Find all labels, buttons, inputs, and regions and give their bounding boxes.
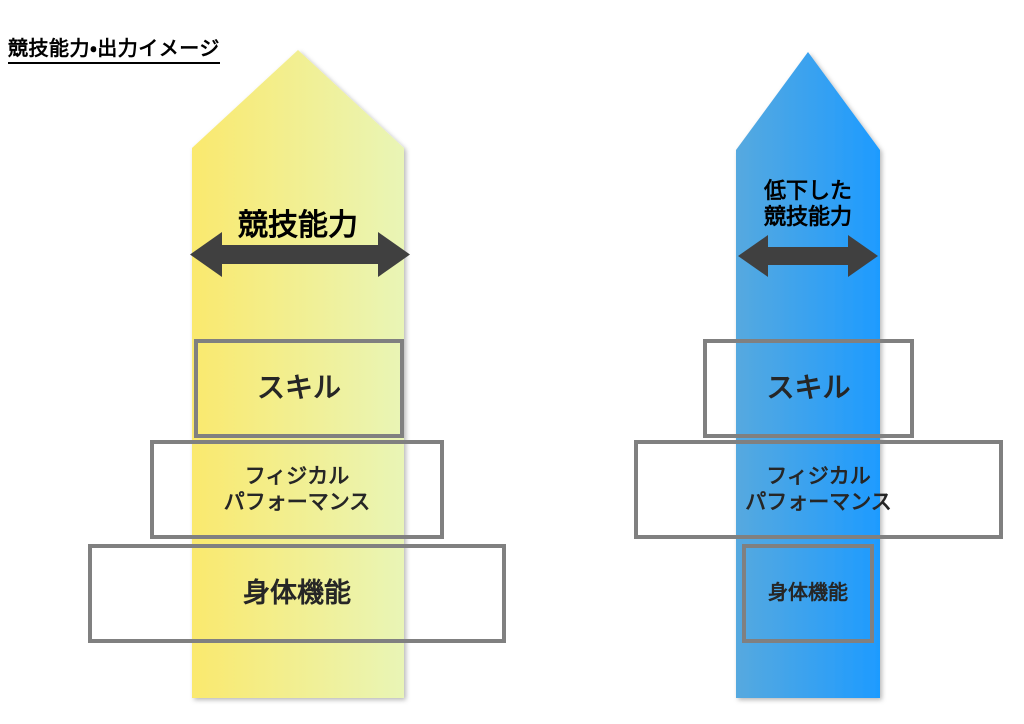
left-tier-box-skill[interactable]: スキル [194, 339, 404, 438]
left-arrow-annotation: 競技能力 [192, 208, 404, 243]
left-tier-label-skill: スキル [257, 371, 341, 405]
diagram-canvas: 競技能力・出力イメージ [0, 0, 1024, 724]
right-tier-box-body[interactable]: 身体機能 [742, 544, 874, 643]
right-tier-label-physical: フィジカル パフォーマンス [745, 464, 892, 515]
right-tier-label-body: 身体機能 [768, 581, 848, 605]
right-tier-box-skill[interactable]: スキル [703, 339, 914, 438]
left-tier-box-body[interactable]: 身体機能 [88, 544, 506, 643]
left-tier-label-physical: フィジカル パフォーマンス [224, 464, 371, 515]
right-tier-label-skill: スキル [766, 371, 850, 405]
left-tier-label-body: 身体機能 [243, 577, 351, 610]
page-title: 競技能力・出力イメージ [8, 38, 220, 64]
right-arrow-annotation: 低下した 競技能力 [730, 178, 886, 230]
right-double-arrow-icon [738, 235, 878, 277]
right-tier-box-physical[interactable]: フィジカル パフォーマンス [634, 440, 1003, 539]
left-tier-box-physical[interactable]: フィジカル パフォーマンス [150, 440, 444, 539]
